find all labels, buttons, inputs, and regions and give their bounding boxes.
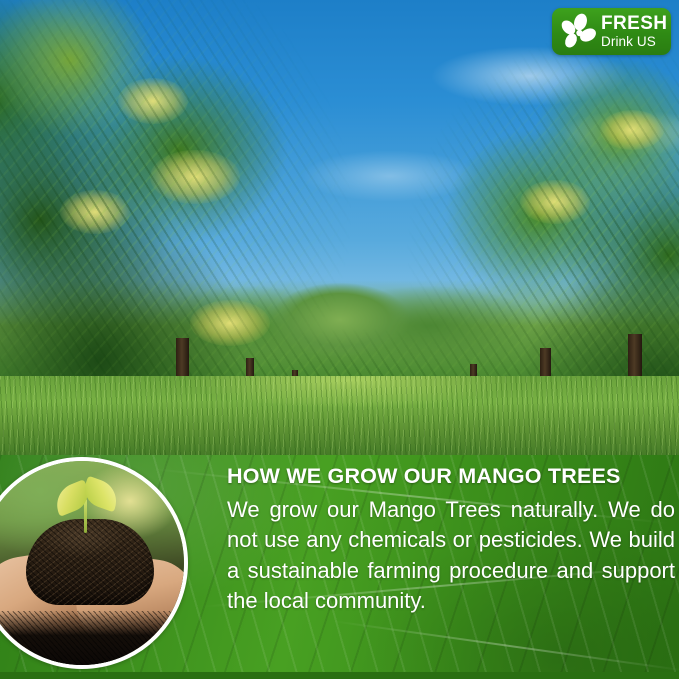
panel-bottom-strip	[0, 672, 679, 679]
seedling-photo-content	[0, 461, 184, 665]
cloud-wisp	[430, 46, 630, 106]
logo-brand-name: FRESH	[601, 14, 667, 33]
mango-flower-panicle	[600, 110, 664, 150]
logo-text-group: FRESH Drink US	[601, 14, 667, 49]
product-image-poster: HOW WE GROW OUR MANGO TREES We grow our …	[0, 0, 679, 679]
leaf-cluster-icon	[558, 13, 598, 51]
orchard-photo	[0, 0, 679, 462]
panel-text-block: HOW WE GROW OUR MANGO TREES We grow our …	[227, 463, 675, 617]
seedling-stem	[84, 499, 87, 533]
panel-headline: HOW WE GROW OUR MANGO TREES	[227, 463, 675, 490]
soil-mound	[26, 519, 154, 605]
mango-flower-panicle	[118, 78, 188, 124]
leaf-midrib	[332, 620, 679, 672]
foreground-soil	[0, 611, 184, 665]
cloud-wisp	[560, 110, 679, 156]
panel-body-text: We grow our Mango Trees naturally. We do…	[227, 495, 675, 616]
mango-flower-panicle	[520, 180, 590, 224]
logo-tagline: Drink US	[601, 35, 667, 49]
cloud-wisp	[300, 150, 480, 202]
mango-flower-panicle	[150, 150, 240, 204]
grass-path	[0, 376, 679, 462]
seedling-circle-photo	[0, 457, 188, 669]
brand-logo[interactable]: FRESH Drink US	[552, 8, 671, 55]
mango-flower-panicle	[60, 190, 130, 234]
